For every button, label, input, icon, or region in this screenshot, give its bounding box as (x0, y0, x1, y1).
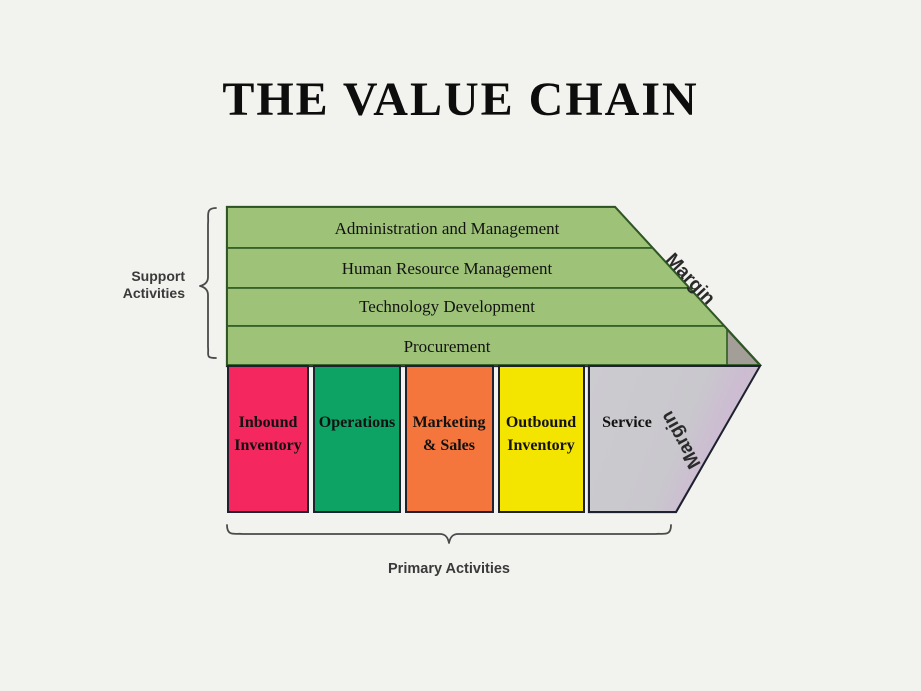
primary-cell-background (314, 366, 400, 512)
primary-cell-label-line1: Outbound (506, 414, 576, 431)
primary-activities-caption: Primary Activities (388, 561, 510, 577)
support-activities-bracket (200, 208, 216, 358)
primary-cell-label-line1: Operations (319, 414, 395, 431)
support-activities-bracket-label-line1: Support (131, 268, 185, 284)
primary-cell-operations[interactable]: Operations (314, 366, 400, 512)
primary-cell-label-line1: Service (602, 414, 652, 431)
support-activities-bracket-label-line2: Activities (123, 285, 185, 301)
primary-activities-bracket (227, 525, 671, 543)
support-label-administration: Administration and Management (335, 219, 560, 238)
primary-cell-marketing-sales[interactable]: Marketing & Sales (406, 366, 493, 512)
primary-cell-label-line2: Inventory (507, 437, 575, 454)
support-label-human-resource: Human Resource Management (342, 259, 553, 278)
primary-cell-label-line1: Marketing (413, 414, 486, 431)
primary-cell-label-line2: & Sales (423, 437, 475, 454)
primary-cell-outbound-inventory[interactable]: Outbound Inventory (499, 366, 584, 512)
primary-cell-label-line2: Inventory (234, 437, 302, 454)
diagram-canvas: THE VALUE CHAIN (0, 0, 921, 691)
value-chain-diagram: Administration and Management Human Reso… (0, 0, 921, 691)
brace-path (200, 208, 216, 358)
brace-path (227, 525, 671, 543)
support-label-procurement: Procurement (404, 337, 491, 356)
support-label-technology: Technology Development (359, 297, 535, 316)
primary-cell-inbound-inventory[interactable]: Inbound Inventory (228, 366, 308, 512)
primary-cell-label-line1: Inbound (239, 414, 298, 431)
